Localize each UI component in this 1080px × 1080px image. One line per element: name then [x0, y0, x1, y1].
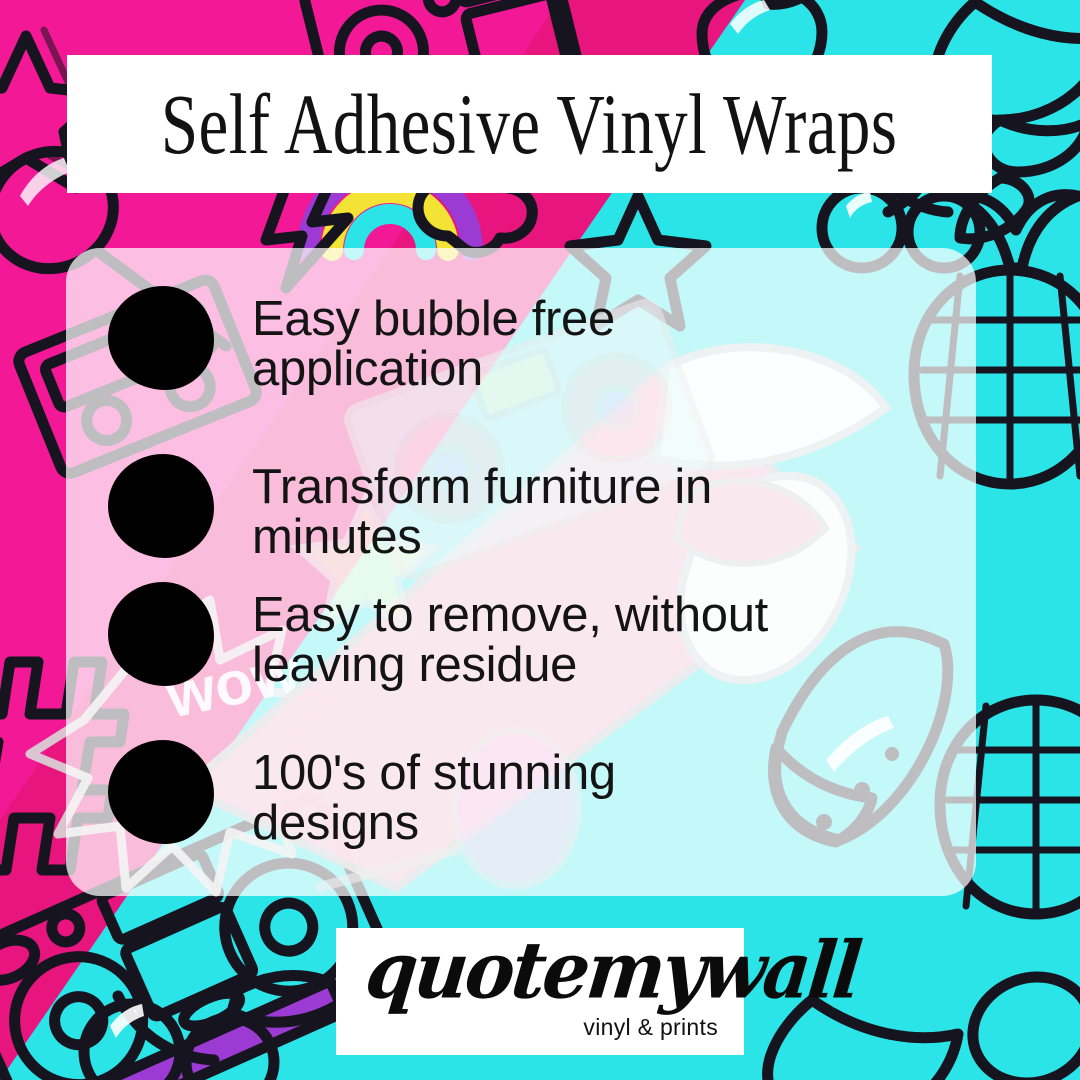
- feature-text: Easy bubble free application: [252, 286, 615, 395]
- brand-tagline: vinyl & prints: [583, 1014, 718, 1041]
- feature-text: Easy to remove, without leaving residue: [252, 582, 768, 691]
- brand-wordmark: quotemywall: [362, 932, 863, 1010]
- feature-text: 100's of stunning designs: [252, 740, 616, 849]
- black-blob-bullet-icon: [108, 740, 214, 844]
- title-card: Self Adhesive Vinyl Wraps: [67, 55, 992, 193]
- brand-logo-card: quotemywall vinyl & prints: [336, 928, 744, 1055]
- poster-canvas: wow: [0, 0, 1080, 1080]
- black-blob-bullet-icon: [108, 454, 214, 558]
- list-item: 100's of stunning designs: [108, 740, 616, 849]
- black-blob-bullet-icon: [108, 582, 214, 686]
- page-title: Self Adhesive Vinyl Wraps: [161, 81, 898, 167]
- feature-text: Transform furniture in minutes: [252, 454, 712, 563]
- black-blob-bullet-icon: [108, 286, 214, 390]
- list-item: Easy bubble free application: [108, 286, 615, 395]
- list-item: Transform furniture in minutes: [108, 454, 712, 563]
- list-item: Easy to remove, without leaving residue: [108, 582, 768, 691]
